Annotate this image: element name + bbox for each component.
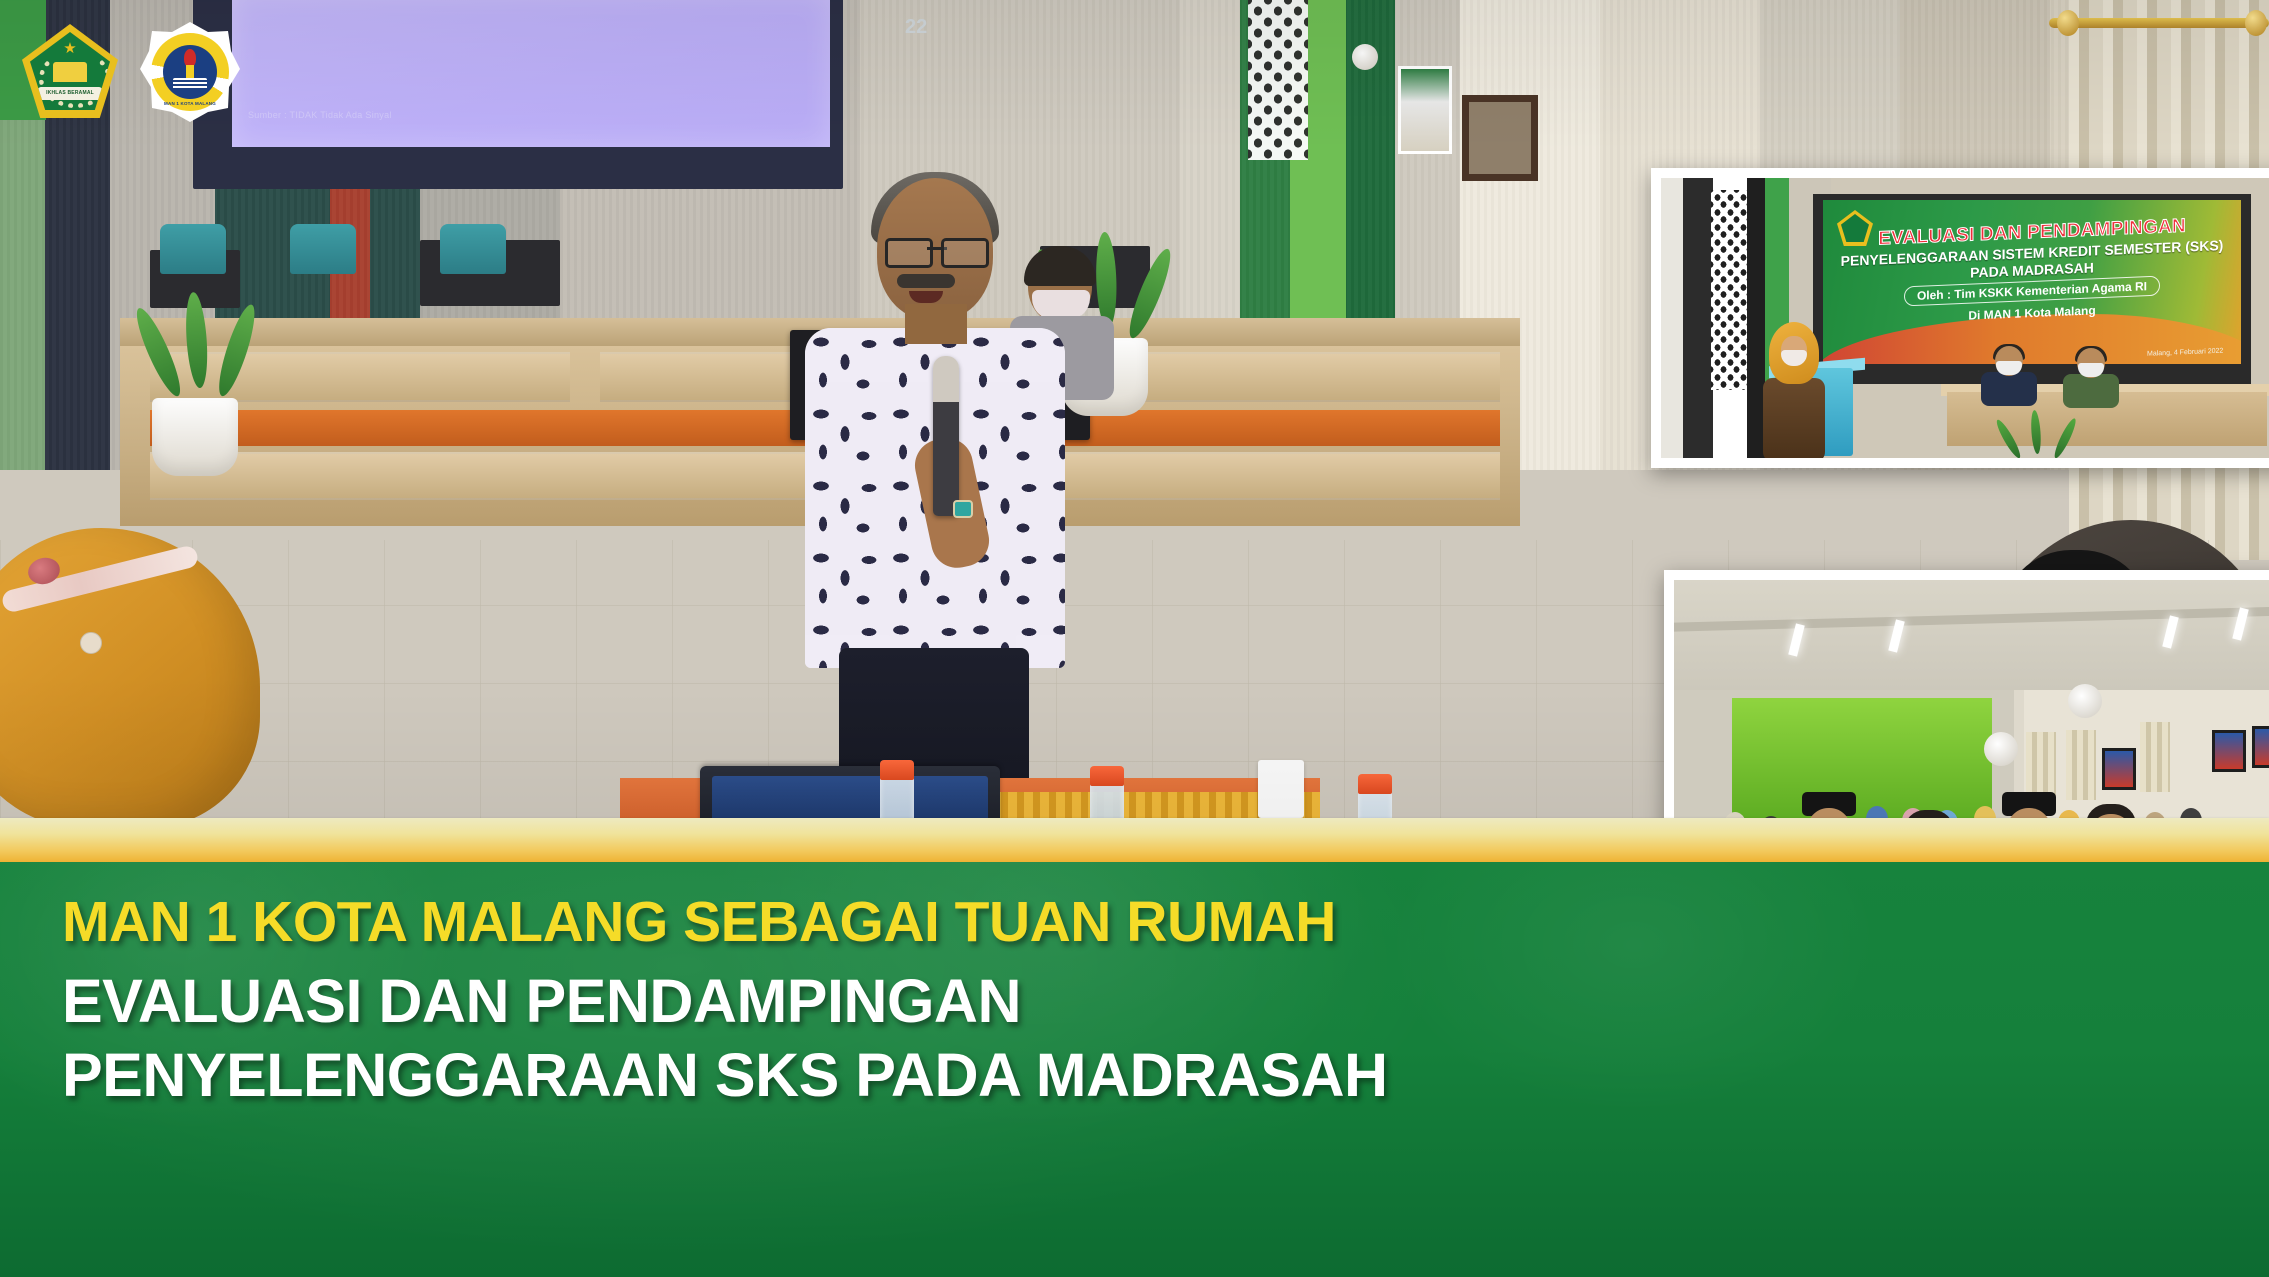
window-curtain xyxy=(2066,730,2096,800)
ring-icon xyxy=(953,500,973,518)
wall-poster xyxy=(1398,66,1452,154)
inset-photo-stage: EVALUASI DAN PENDAMPINGAN PENYELENGGARAA… xyxy=(1651,168,2269,468)
lattice-panel-icon xyxy=(1711,190,1747,390)
speaker-woman xyxy=(1763,322,1825,458)
microphone-icon xyxy=(933,356,959,516)
curtain-rod-knob-right xyxy=(2245,10,2267,36)
poster-root: Sumber : TIDAK Tidak Ada Sinyal 22 xyxy=(0,0,2269,1277)
panelist-2 xyxy=(2063,348,2119,402)
wall-picture-frame xyxy=(1462,95,1538,181)
plant-pot-left xyxy=(152,398,238,476)
event-banner: EVALUASI DAN PENDAMPINGAN PENYELENGGARAA… xyxy=(1823,200,2241,364)
man1-kota-malang-logo: MAN 1 KOTA MALANG xyxy=(140,22,240,122)
curtain-rod-knob-left xyxy=(2057,10,2079,36)
wall-picture-frame xyxy=(2212,730,2246,772)
headline-line-2: EVALUASI DAN PENDAMPINGAN xyxy=(62,967,2229,1037)
wall-fan-icon xyxy=(2068,684,2102,718)
tissue-box xyxy=(1258,760,1304,818)
bottle-cap xyxy=(1358,774,1392,794)
projector-screen xyxy=(232,0,830,147)
school-logo-caption: MAN 1 KOTA MALANG xyxy=(151,101,229,106)
lattice-panel xyxy=(1248,0,1308,160)
open-book-icon xyxy=(53,62,87,82)
logo-group: ★ IKHLAS BERAMAL MAN 1 KOTA MALANG xyxy=(18,18,258,128)
headline-line-3: PENYELENGGARAAN SKS PADA MADRASAH xyxy=(62,1041,2229,1111)
headline-band: MAN 1 KOTA MALANG SEBAGAI TUAN RUMAH EVA… xyxy=(0,862,2269,1277)
book-icon xyxy=(173,78,207,90)
speaker-figure xyxy=(805,178,1065,840)
headline-line-1: MAN 1 KOTA MALANG SEBAGAI TUAN RUMAH xyxy=(62,890,2229,955)
bottle-cap xyxy=(1090,766,1124,786)
gold-divider-bar xyxy=(0,818,2269,864)
panelist-1 xyxy=(1981,346,2037,402)
wall-picture-frame xyxy=(2252,726,2269,768)
curtain-rod xyxy=(2049,18,2269,28)
bottle-cap xyxy=(880,760,914,780)
wall-picture-frame xyxy=(2102,748,2136,790)
window-curtain xyxy=(2140,722,2170,792)
kemenag-ribbon-text: IKHLAS BERAMAL xyxy=(38,87,102,100)
wall-fan-icon xyxy=(1984,732,2018,766)
headline-group: MAN 1 KOTA MALANG SEBAGAI TUAN RUMAH EVA… xyxy=(62,890,2229,1110)
foreground-woman xyxy=(0,528,290,840)
ceiling-speaker-icon xyxy=(1352,44,1378,70)
room-number-sign: 22 xyxy=(905,16,927,39)
decorative-plant xyxy=(1997,410,2077,458)
stage-chair xyxy=(160,224,226,274)
stage-chair xyxy=(440,224,506,274)
stage-chair xyxy=(290,224,356,274)
projector-screen-message: Sumber : TIDAK Tidak Ada Sinyal xyxy=(248,110,392,121)
kemenag-logo: ★ IKHLAS BERAMAL xyxy=(22,24,118,118)
green-wall-panel xyxy=(1732,698,1992,818)
